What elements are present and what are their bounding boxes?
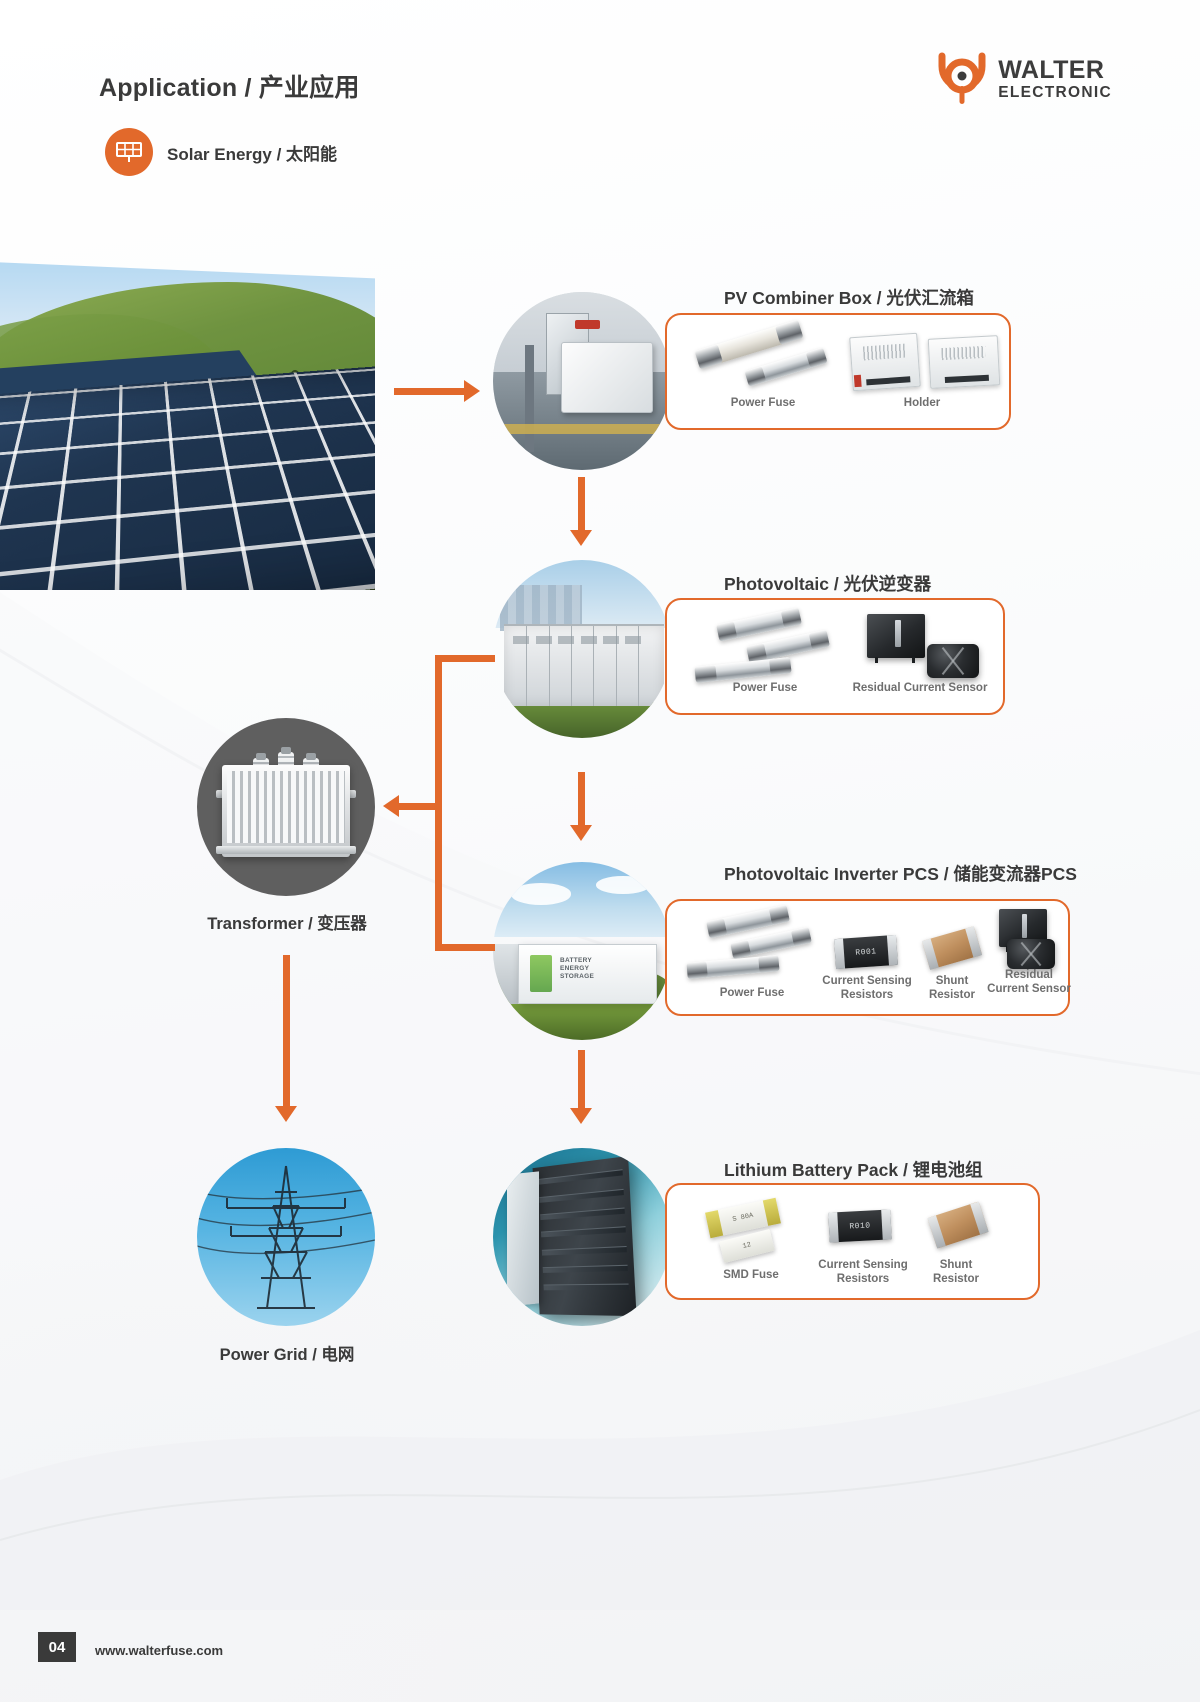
product-label-shunt-resistor-4: Shunt Resistor [913, 1259, 999, 1286]
callout-title-lithium-battery-pack: Lithium Battery Pack / 锂电池组 [724, 1157, 983, 1182]
arrow-combiner-to-inverter [578, 477, 585, 532]
page-footer: 04 www.walterfuse.com [0, 1612, 1200, 1702]
product-label-residual-current-sensor-2: Residual Current Sensor [837, 682, 1003, 696]
resistor-code-3: R001 [834, 935, 898, 969]
product-art-smd-fuse-4: S 80A 12 [699, 1201, 819, 1267]
product-label-shunt-resistor-3: Shunt Resistor [913, 975, 991, 1002]
container-text-line2: ENERGY [560, 965, 594, 973]
node-photo-pv-combiner-box [493, 292, 671, 470]
node-photo-power-grid [197, 1148, 375, 1326]
container-text-line3: STORAGE [560, 973, 594, 981]
callout-lithium-battery-pack: S 80A 12 R010 SMD Fuse [665, 1183, 1040, 1300]
product-shunt-resistor-4: Shunt Resistor [913, 1259, 999, 1286]
caption-power-grid: Power Grid / 电网 [198, 1341, 376, 1365]
node-photo-lithium-battery-rack [493, 1148, 671, 1326]
arrow-bus-bottom-branch [435, 944, 495, 951]
node-photo-battery-energy-storage: BATTERY ENERGY STORAGE [493, 862, 671, 1040]
section-badge: Solar Energy / 太阳能 [105, 128, 337, 176]
arrow-inverter-to-pcs [578, 772, 585, 827]
product-label-current-sensing-resistors-4: Current Sensing Resistors [811, 1259, 915, 1286]
brand-logo: WALTER ELECTRONIC [937, 52, 1112, 106]
product-power-fuse: Power Fuse [693, 397, 833, 411]
node-photo-transformer [197, 718, 375, 896]
caption-transformer: Transformer / 变压器 [198, 910, 376, 934]
product-label-residual-current-sensor-3: Residual Current Sensor [981, 969, 1077, 996]
product-current-sensing-resistors-4: Current Sensing Resistors [811, 1259, 915, 1286]
product-art-power-fuse-3 [683, 911, 823, 979]
section-badge-label: Solar Energy / 太阳能 [167, 140, 337, 165]
arrow-transformer-to-grid [283, 955, 290, 1110]
product-label-holder: Holder [847, 397, 997, 411]
product-art-shunt-resistor-4 [919, 1199, 1003, 1261]
solar-panel-icon [105, 128, 153, 176]
page-title-en: Application [99, 74, 237, 102]
node-photo-photovoltaic-inverter [493, 560, 671, 738]
product-residual-current-sensor-2: Residual Current Sensor [837, 682, 1003, 696]
product-art-power-fuse [687, 329, 837, 391]
callout-pv-combiner-box: Power Fuse Holder [665, 313, 1011, 430]
logo-text-line2: ELECTRONIC [998, 85, 1112, 101]
page-title: Application / 产业应用 [99, 68, 360, 104]
arrow-head-inverter-to-pcs [570, 825, 592, 841]
arrow-head-hero-to-combiner [464, 380, 480, 402]
container-text-line1: BATTERY [560, 957, 594, 965]
product-label-power-fuse-3: Power Fuse [679, 987, 825, 1001]
product-art-current-sensing-resistor-3: R001 [825, 929, 911, 979]
arrow-bus-top-branch [435, 655, 495, 662]
product-art-residual-current-sensor-2 [859, 610, 999, 680]
product-art-fuse-holder [845, 327, 1001, 393]
product-power-fuse-2: Power Fuse [691, 682, 839, 696]
product-shunt-resistor-3: Shunt Resistor [913, 975, 991, 1002]
footer-website-url[interactable]: www.walterfuse.com [95, 1643, 223, 1658]
product-art-current-sensing-resistor-4: R010 [815, 1203, 909, 1259]
walter-y-mark-icon [937, 52, 989, 106]
product-power-fuse-3: Power Fuse [679, 987, 825, 1001]
arrow-bus-to-transformer [399, 803, 441, 810]
product-label-smd-fuse-4: SMD Fuse [681, 1269, 821, 1283]
arrow-head-pcs-to-battery [570, 1108, 592, 1124]
callout-photovoltaic-inverter-pcs: R001 Power Fuse Curr [665, 899, 1070, 1016]
arrow-head-combiner-to-inverter [570, 530, 592, 546]
product-label-power-fuse-2: Power Fuse [691, 682, 839, 696]
product-smd-fuse-4: SMD Fuse [681, 1269, 821, 1283]
product-residual-current-sensor-3: Residual Current Sensor [981, 969, 1077, 996]
product-label-current-sensing-resistors-3: Current Sensing Resistors [815, 975, 919, 1002]
callout-title-photovoltaic-inverter-pcs: Photovoltaic Inverter PCS / 储能变流器PCS [724, 861, 1077, 886]
arrow-hero-to-combiner [394, 388, 464, 395]
arrow-head-transformer-to-grid [275, 1106, 297, 1122]
resistor-code-4: R010 [828, 1209, 891, 1242]
logo-text-line1: WALTER [998, 58, 1112, 83]
page-number: 04 [38, 1632, 76, 1662]
callout-title-photovoltaic: Photovoltaic / 光伏逆变器 [724, 571, 931, 596]
page-title-separator: / [244, 74, 251, 102]
callout-title-pv-combiner-box: PV Combiner Box / 光伏汇流箱 [724, 285, 974, 310]
product-art-power-fuse-2 [689, 612, 849, 680]
product-fuse-holder: Holder [847, 397, 997, 411]
page-root: Application / 产业应用 WALTER ELECTRONIC [0, 0, 1200, 1702]
page-header: Application / 产业应用 WALTER ELECTRONIC [0, 0, 1200, 130]
product-label-power-fuse: Power Fuse [693, 397, 833, 411]
product-current-sensing-resistors-3: Current Sensing Resistors [815, 975, 919, 1002]
callout-photovoltaic: Power Fuse Residual Current Sensor [665, 598, 1005, 715]
arrow-head-bus-to-transformer [383, 795, 399, 817]
arrow-pcs-to-battery [578, 1050, 585, 1110]
page-title-cn: 产业应用 [259, 74, 360, 102]
solar-field-photo [0, 262, 375, 590]
